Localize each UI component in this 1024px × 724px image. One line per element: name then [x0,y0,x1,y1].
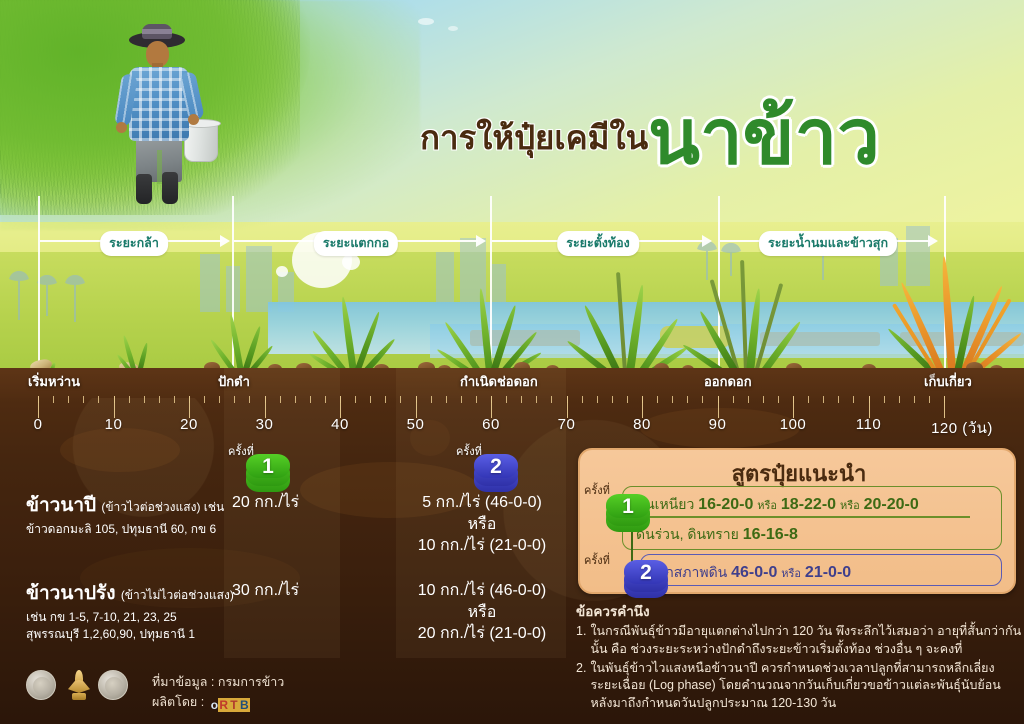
rice-type-name: ข้าวนาปรัง (ข้าวไม่ไวต่อช่วงแสง) [26,578,246,608]
table-row: ข้าวนาปี (ข้าวไวต่อช่วงแสง) เช่น ข้าวดอก… [26,490,226,538]
rice-type-subtitle: (ข้าวไม่ไวต่อช่วงแสง) [121,588,234,602]
ruler-tick-minor [83,396,84,403]
rice-panicle [616,272,627,372]
ruler-label-end: 120 (วัน) [931,416,993,440]
ruler-tick-minor [853,396,854,403]
ripe-leaf-blade [940,256,956,372]
row-2-dose-2-line-2: 20 กก./ไร่ (21-0-0) [398,623,566,645]
ruler-tick-minor [325,396,326,403]
leaf-blade [626,284,646,372]
plant-flowering [694,256,798,372]
ruler-label-70: 70 [558,416,576,433]
recommendation-round-label-2: ครั้งที่ [584,551,610,569]
plant-panicle-initiation [446,284,530,372]
ruler-label-30: 30 [256,416,274,433]
ruler-tick-minor [129,396,130,403]
ruler-tick-minor [506,396,507,403]
ruler-tick-minor [234,396,235,403]
ruler-tick-minor [144,396,145,403]
recommendation-line-1: ดินเหนียว 16-20-0 หรือ 18-22-0 หรือ 20-2… [636,494,919,516]
row-1-dose-2: 5 กก./ไร่ (46-0-0) หรือ 10 กก./ไร่ (21-0… [398,492,566,557]
agency-seal-right [98,670,128,700]
rice-type-name: ข้าวนาปี (ข้าวไวต่อช่วงแสง) เช่น [26,490,226,520]
dose-badge-2-number: 2 [474,454,518,479]
ruler-tick-minor [733,396,734,403]
ruler-tick-minor [838,396,839,403]
rice-type-title: ข้าวนาปี [26,495,96,516]
ruler-tick-minor [295,396,296,403]
ruler-tick-minor [899,396,900,403]
ruler-tick-minor [748,396,749,403]
formula-20-20-0: 20-20-0 [864,496,919,513]
rtb-logo-t: T [229,698,239,712]
leaf-blade [477,288,493,372]
note-number: 1. [576,623,586,659]
ruler-tick-minor [808,396,809,403]
ruler-label-10: 10 [105,416,123,433]
farmer-boot-right [162,172,178,204]
stage-arrow-head [220,235,230,247]
ruler-tick-minor [400,396,401,403]
ruler-tick-minor [355,396,356,403]
ruler-tick-minor [914,396,915,403]
formula-16-16-8: 16-16-8 [743,526,798,543]
stage-label-2: ระยะแตกกอ [314,231,398,256]
row-1-dose-1: 20 กก./ไร่ [232,492,299,514]
stage-label-1: ระยะกล้า [100,231,168,256]
footer-text: ที่มาข้อมูล : กรมการข้าว ผลิตโดย : oRTB [152,672,284,715]
ruler-tick-minor [446,396,447,403]
ruler-tick-minor [521,396,522,403]
farmer-boot-left [136,174,152,204]
plant-booting [578,268,674,372]
page-title: การให้ปุ๋ยเคมีใน นาข้าว [420,96,1000,166]
rtb-logo: oRTB [211,696,250,715]
row-2-dose-2: 10 กก./ไร่ (46-0-0) หรือ 20 กก./ไร่ (21-… [398,580,566,645]
garuda-base [72,693,86,700]
city-silhouette [200,254,220,312]
ruler-tick-minor [657,396,658,403]
ruler-tick-major [491,396,492,418]
formula-16-20-0: 16-20-0 [698,496,753,513]
ruler-tick-minor [687,396,688,403]
ruler-label-100: 100 [780,416,807,433]
ruler-tick-minor [53,396,54,403]
recommendation-divider [632,516,970,518]
farmer-hand-right [188,114,199,125]
title-part-two: นาข้าว [648,100,880,176]
ruler-tick-minor [249,396,250,403]
stage-label-4: ระยะน้ำนมและข้าวสุก [759,231,897,256]
fertilizer-recommendation-panel: สูตรปุ๋ยแนะนำ ดินเหนียว 16-20-0 หรือ 18-… [578,448,1016,594]
plant-seedling [118,332,158,372]
paint-splatter [342,254,360,270]
ground-marker-3: ออกดอก [704,371,752,392]
stage-label-3: ระยะตั้งท้อง [557,231,639,256]
ruler-tick-minor [310,396,311,403]
formula-21-0-0: 21-0-0 [805,564,851,581]
ruler-tick-major [869,396,870,418]
note-text: ในพันธุ์ข้าวไวแสงหนือข้าวนาปี ควรกำหนดช่… [590,660,1022,713]
ruler-tick-minor [778,396,779,403]
paint-splatter [418,18,434,25]
ruler-tick-minor [884,396,885,403]
ruler-tick-minor [98,396,99,403]
ruler-label-90: 90 [709,416,727,433]
farmer-hand-left [116,122,127,133]
ruler-tick-major [114,396,115,418]
ruler-label-60: 60 [482,416,500,433]
ruler-tick-minor [159,396,160,403]
plant-transplant [212,310,272,372]
leaf-blade [339,296,357,372]
farmer-photo [96,22,224,212]
dose-badge-1: 1 [246,452,292,492]
stage-divider [38,196,40,372]
ruler-tick-minor [536,396,537,403]
ruler-tick-minor [702,396,703,403]
ground-marker-4: เก็บเกี่ยว [924,371,972,392]
ruler-tick-minor [219,396,220,403]
ruler-label-40: 40 [331,416,349,433]
note-item: 1. ในกรณีพันธุ์ข้าวมีอายุแตกต่างไปกว่า 1… [576,623,1022,659]
ruler-tick-minor [204,396,205,403]
ruler-tick-major [944,396,945,418]
ruler-tick-minor [823,396,824,403]
or-text: หรือ [840,500,860,512]
seal-inner [105,677,123,695]
ruler-label-110: 110 [856,416,881,433]
row-1-dose-2-line-1: 5 กก./ไร่ (46-0-0) [398,492,566,514]
recommendation-badge-2-number: 2 [624,560,668,585]
recommendation-line-3: ทุกสภาพดิน 46-0-0 หรือ 21-0-0 [656,562,851,584]
palm-tree [74,278,76,322]
ruler-tick-minor [174,396,175,403]
ruler-tick-major [567,396,568,418]
rice-type-title: ข้าวนาปรัง [26,583,116,604]
palm-tree [46,278,48,316]
stage-arrow-head [928,235,938,247]
rice-varieties-line-2: สุพรรณบุรี 1,2,60,90, ปทุมธานี 1 [26,626,246,643]
ruler-tick-major [416,396,417,418]
garuda-wings [68,680,90,693]
ruler-tick-major [265,396,266,418]
table-row: ข้าวนาปรัง (ข้าวไม่ไวต่อช่วงแสง) เช่น กข… [26,578,246,644]
or-text: หรือ [781,568,801,580]
stage-arrow-head [702,235,712,247]
ruler-tick-minor [582,396,583,403]
recommendation-badge-1-number: 1 [606,494,650,519]
dose-badge-1-number: 1 [246,454,290,479]
row-2-dose-2-line-1: 10 กก./ไร่ (46-0-0) [398,580,566,602]
ruler-tick-minor [672,396,673,403]
recommendation-line-2: ดินร่วน, ดินทราย 16-16-8 [636,524,798,546]
palm-tree [18,274,20,320]
ruler-tick-minor [597,396,598,403]
ruler-tick-minor [385,396,386,403]
row-1-dose-2-line-2: 10 กก./ไร่ (21-0-0) [398,535,566,557]
ruler-tick-major [642,396,643,418]
ruler-tick-major [38,396,39,418]
fertilizer-bucket [184,122,218,162]
note-item: 2. ในพันธุ์ข้าวไวแสงหนือข้าวนาปี ควรกำหน… [576,660,1022,713]
title-part-one: การให้ปุ๋ยเคมีใน [420,111,648,164]
recommendation-badge-1: 1 [606,492,652,532]
ruler-tick-minor [370,396,371,403]
row-2-dose-2-or: หรือ [398,602,566,624]
ruler-tick-minor [929,396,930,403]
notes-section: ข้อควรคำนึง 1. ในกรณีพันธุ์ข้าวมีอายุแตก… [576,600,1022,713]
ground-marker-2: กำเนิดช่อดอก [460,371,538,392]
ruler-label-50: 50 [407,416,425,433]
ground-marker-1: ปักดำ [218,371,250,392]
dose-badge-2: 2 [474,452,520,492]
plant-harvest [900,250,1008,372]
rice-varieties: ข้าวดอกมะลิ 105, ปทุมธานี 60, กข 6 [26,521,226,538]
farmer-hat-band [142,29,172,34]
ruler-tick-minor [476,396,477,403]
rice-type-subtitle: (ข้าวไวต่อช่วงแสง) เช่น [101,500,224,514]
ruler-tick-major [189,396,190,418]
garuda-emblem [68,668,90,702]
ruler-label-20: 20 [180,416,198,433]
ruler-label-80: 80 [633,416,651,433]
day-ruler: 0102030405060708090100110120 (วัน) [0,396,1024,442]
ruler-tick-major [793,396,794,418]
infographic-poster: การให้ปุ๋ยเคมีใน นาข้าว ระยะกล้า ระยะแตก… [0,0,1024,724]
footer-source: ที่มาข้อมูล : กรมการข้าว [152,672,284,692]
formula-46-0-0: 46-0-0 [731,564,777,581]
ruler-tick-minor [551,396,552,403]
rtb-logo-r: R [218,698,229,712]
footer-producer-label: ผลิตโดย : [152,695,208,709]
ruler-tick-minor [431,396,432,403]
formula-18-22-0: 18-22-0 [781,496,836,513]
footer-producer-row: ผลิตโดย : oRTB [152,692,284,715]
row-1-dose-2-or: หรือ [398,514,566,536]
paint-splatter [448,26,458,31]
rtb-logo-b: B [239,698,250,712]
ruler-tick-minor [627,396,628,403]
rice-varieties-line-1: เช่น กข 1-5, 7-10, 21, 23, 25 [26,609,246,626]
footer: ที่มาข้อมูล : กรมการข้าว ผลิตโดย : oRTB [26,668,386,716]
or-text: หรือ [757,500,777,512]
ruler-label-0: 0 [34,416,43,433]
ruler-tick-minor [461,396,462,403]
note-number: 2. [576,660,586,713]
ruler-tick-minor [763,396,764,403]
ruler-tick-minor [68,396,69,403]
ruler-tick-minor [612,396,613,403]
plant-tillering [318,292,388,372]
seal-inner [33,677,51,695]
ruler-tick-major [340,396,341,418]
note-text: ในกรณีพันธุ์ข้าวมีอายุแตกต่างไปกว่า 120 … [590,623,1022,659]
notes-title: ข้อควรคำนึง [576,600,1022,622]
row-2-dose-1: 30 กก./ไร่ [232,580,299,602]
recommendation-badge-2: 2 [624,558,670,598]
paint-splatter [276,266,288,277]
stage-arrow-head [476,235,486,247]
agency-seal-left [26,670,56,700]
ground-marker-0: เริ่มหว่าน [28,371,80,392]
ruler-tick-major [718,396,719,418]
ruler-tick-minor [280,396,281,403]
